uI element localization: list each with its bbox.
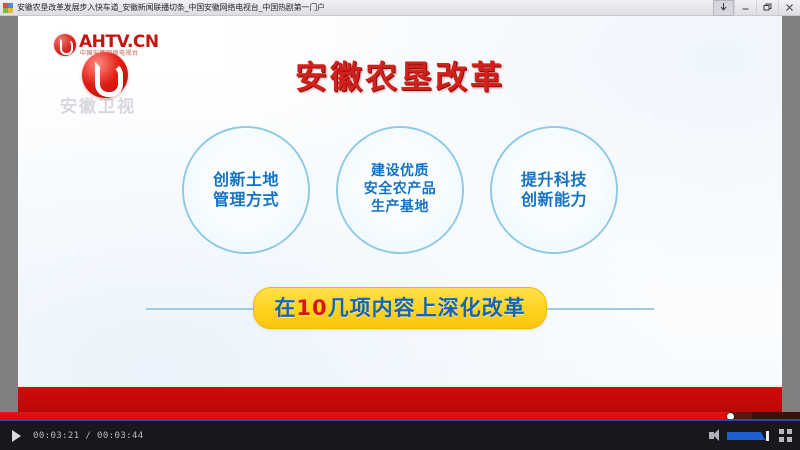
progress-bar[interactable]	[0, 412, 800, 421]
slide-circles: 创新土地 管理方式 建设优质 安全农产品 生产基地 提升科技 创新能力	[18, 126, 782, 254]
circle-line: 提升科技	[521, 170, 587, 190]
time-separator: /	[85, 431, 91, 441]
close-button[interactable]	[778, 0, 800, 16]
play-button[interactable]	[7, 427, 25, 445]
volume-control[interactable]	[709, 429, 769, 442]
restore-icon	[763, 3, 772, 12]
window-controls	[713, 0, 800, 16]
circle-line: 建设优质	[371, 163, 429, 181]
player-buttons-row: 00:03:21 / 00:03:44	[0, 421, 800, 450]
browser-favicon-icon	[3, 3, 13, 13]
circle-line: 管理方式	[213, 190, 279, 210]
restore-button[interactable]	[756, 0, 778, 16]
player-control-bar: 00:03:21 / 00:03:44	[0, 412, 800, 450]
banner-rule-left	[146, 308, 253, 310]
banner-number: 10	[296, 296, 327, 320]
page-background: AHTV.CN 中国安徽网络电视台 安徽卫视 安徽农垦改革 创新土地 管理方式 …	[0, 16, 800, 450]
current-time: 00:03:21	[33, 431, 80, 441]
circle-line: 创新土地	[213, 170, 279, 190]
slide-headline: 安徽农垦改革	[18, 52, 782, 98]
slide-banner-row: 在10几项内容上深化改革	[18, 288, 782, 328]
circle-quality-products: 建设优质 安全农产品 生产基地	[336, 126, 464, 254]
banner-rule-right	[547, 308, 654, 310]
circle-land-management: 创新土地 管理方式	[182, 126, 310, 254]
minimize-button[interactable]	[734, 0, 756, 16]
slide-banner-pill: 在10几项内容上深化改革	[253, 287, 546, 329]
volume-slider[interactable]	[727, 431, 769, 440]
close-icon	[785, 3, 794, 12]
banner-prefix: 在	[274, 296, 296, 320]
time-display: 00:03:21 / 00:03:44	[33, 431, 144, 441]
circle-line: 安全农产品	[364, 181, 437, 199]
minimize-icon	[741, 3, 750, 12]
video-stage[interactable]: AHTV.CN 中国安徽网络电视台 安徽卫视 安徽农垦改革 创新土地 管理方式 …	[18, 16, 782, 428]
banner-suffix: 几项内容上深化改革	[328, 296, 526, 320]
player-window: 安徽农垦改革发展步入快车道_安徽新闻联播切条_中国安徽网络电视台_中国热剧第一门…	[0, 0, 800, 450]
circle-line: 生产基地	[371, 199, 429, 217]
pin-icon	[720, 3, 727, 12]
volume-knob[interactable]	[766, 431, 769, 441]
title-bar: 安徽农垦改革发展步入快车道_安徽新闻联播切条_中国安徽网络电视台_中国热剧第一门…	[0, 0, 800, 16]
circle-technology-innovation: 提升科技 创新能力	[490, 126, 618, 254]
total-time: 00:03:44	[97, 431, 144, 441]
play-icon	[12, 430, 21, 442]
volume-icon[interactable]	[709, 429, 724, 442]
pin-on-top-button[interactable]	[713, 0, 734, 16]
video-frame: AHTV.CN 中国安徽网络电视台 安徽卫视 安徽农垦改革 创新土地 管理方式 …	[18, 16, 782, 428]
window-title: 安徽农垦改革发展步入快车道_安徽新闻联播切条_中国安徽网络电视台_中国热剧第一门…	[17, 3, 713, 13]
circle-line: 创新能力	[521, 190, 587, 210]
fullscreen-grid-icon[interactable]	[779, 429, 793, 443]
